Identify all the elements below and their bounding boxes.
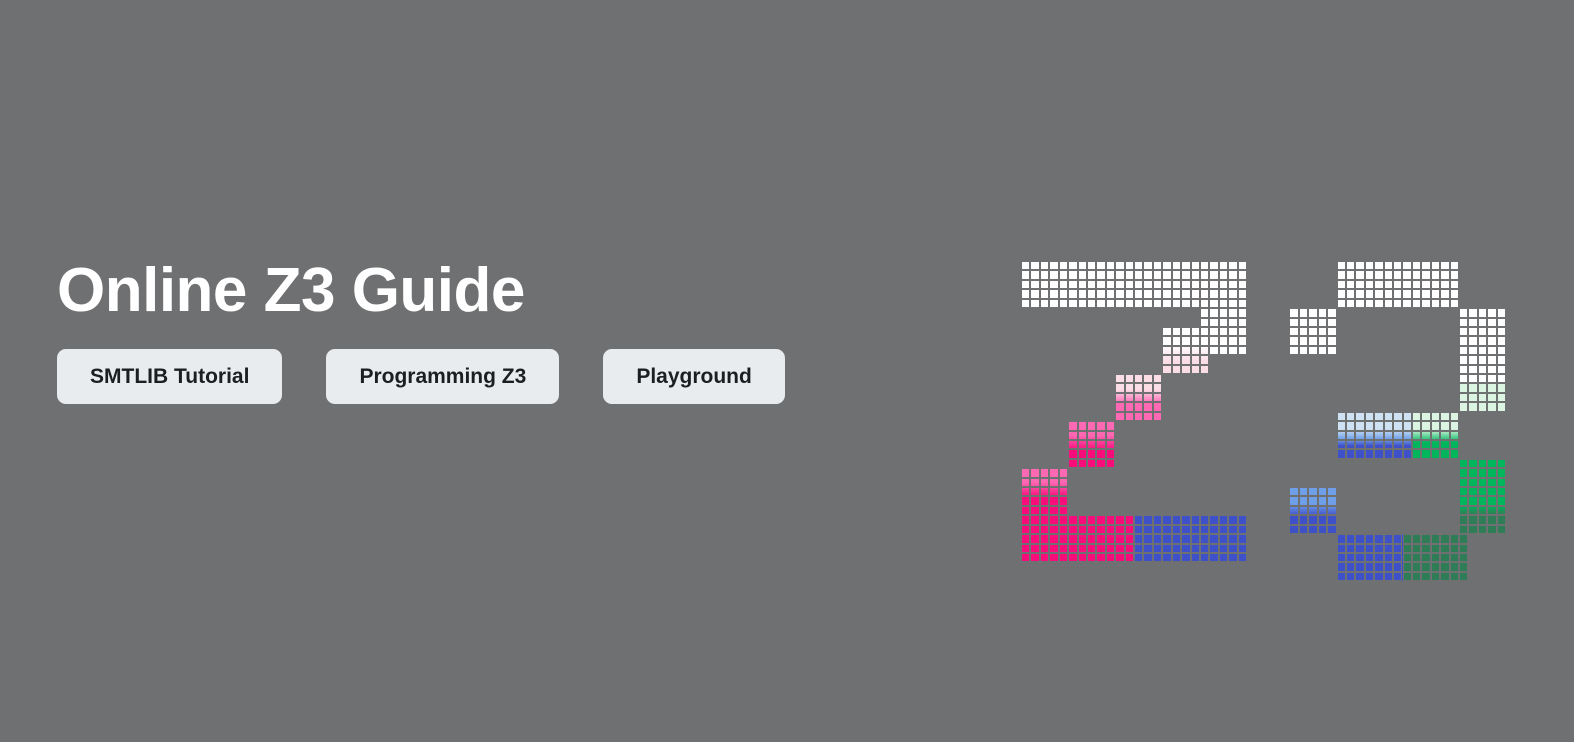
- logo-cell: [1030, 478, 1039, 487]
- logo-cell: [1468, 318, 1477, 327]
- logo-cell: [1162, 299, 1171, 308]
- logo-cell: [1030, 496, 1039, 505]
- logo-cell: [1125, 544, 1134, 553]
- logo-cell: [1096, 270, 1105, 279]
- logo-cell: [1412, 270, 1421, 279]
- logo-cell: [1125, 374, 1134, 383]
- logo-cell: [1299, 327, 1308, 336]
- logo-cell: [1078, 421, 1087, 430]
- logo-cell: [1459, 515, 1468, 524]
- logo-cell: [1068, 280, 1077, 289]
- logo-cell: [1308, 496, 1317, 505]
- logo-cell: [1412, 449, 1421, 458]
- logo-cell: [1209, 515, 1218, 524]
- logo-cell: [1365, 440, 1374, 449]
- logo-cell: [1468, 525, 1477, 534]
- logo-cell: [1200, 308, 1209, 317]
- logo-cell: [1487, 365, 1496, 374]
- logo-cell: [1393, 280, 1402, 289]
- logo-cell: [1021, 270, 1030, 279]
- logo-cell: [1393, 431, 1402, 440]
- logo-cell: [1289, 515, 1298, 524]
- logo-cell: [1219, 336, 1228, 345]
- logo-cell: [1393, 289, 1402, 298]
- logo-cell: [1162, 515, 1171, 524]
- logo-cell: [1478, 327, 1487, 336]
- logo-cell: [1172, 280, 1181, 289]
- logo-cell: [1412, 553, 1421, 562]
- logo-cell: [1374, 553, 1383, 562]
- logo-cell: [1078, 440, 1087, 449]
- logo-cell: [1059, 525, 1068, 534]
- logo-cell: [1181, 280, 1190, 289]
- logo-block: [1021, 515, 1134, 562]
- logo-cell: [1468, 459, 1477, 468]
- logo-cell: [1384, 289, 1393, 298]
- logo-cell: [1468, 365, 1477, 374]
- logo-cell: [1096, 525, 1105, 534]
- logo-cell: [1153, 534, 1162, 543]
- logo-cell: [1181, 534, 1190, 543]
- logo-cell: [1106, 449, 1115, 458]
- logo-block: [1021, 468, 1068, 515]
- logo-cell: [1355, 431, 1364, 440]
- logo-cell: [1421, 280, 1430, 289]
- logo-cell: [1403, 534, 1412, 543]
- logo-cell: [1337, 421, 1346, 430]
- logo-cell: [1412, 431, 1421, 440]
- logo-cell: [1228, 318, 1237, 327]
- logo-cell: [1487, 478, 1496, 487]
- logo-cell: [1459, 478, 1468, 487]
- logo-cell: [1450, 289, 1459, 298]
- logo-cell: [1200, 318, 1209, 327]
- logo-cell: [1021, 553, 1030, 562]
- logo-cell: [1468, 383, 1477, 392]
- logo-cell: [1021, 478, 1030, 487]
- logo-cell: [1059, 280, 1068, 289]
- logo-cell: [1106, 421, 1115, 430]
- logo-cell: [1228, 346, 1237, 355]
- logo-cell: [1021, 525, 1030, 534]
- logo-cell: [1468, 308, 1477, 317]
- logo-cell: [1096, 544, 1105, 553]
- logo-cell: [1200, 534, 1209, 543]
- logo-cell: [1403, 431, 1412, 440]
- logo-cell: [1040, 270, 1049, 279]
- logo-cell: [1346, 562, 1355, 571]
- logo-cell: [1403, 553, 1412, 562]
- logo-cell: [1040, 280, 1049, 289]
- logo-cell: [1299, 506, 1308, 515]
- logo-cell: [1487, 525, 1496, 534]
- logo-cell: [1374, 449, 1383, 458]
- logo-cell: [1030, 280, 1039, 289]
- logo-cell: [1468, 402, 1477, 411]
- logo-cell: [1087, 299, 1096, 308]
- logo-cell: [1374, 431, 1383, 440]
- logo-cell: [1115, 261, 1124, 270]
- logo-cell: [1238, 346, 1247, 355]
- logo-cell: [1238, 318, 1247, 327]
- logo-cell: [1191, 553, 1200, 562]
- logo-cell: [1308, 336, 1317, 345]
- logo-cell: [1030, 525, 1039, 534]
- logo-cell: [1200, 355, 1209, 364]
- logo-cell: [1191, 355, 1200, 364]
- logo-cell: [1209, 270, 1218, 279]
- logo-cell: [1440, 421, 1449, 430]
- logo-cell: [1134, 393, 1143, 402]
- logo-cell: [1209, 336, 1218, 345]
- logo-cell: [1412, 534, 1421, 543]
- logo-cell: [1115, 383, 1124, 392]
- logo-cell: [1393, 440, 1402, 449]
- logo-cell: [1308, 346, 1317, 355]
- logo-cell: [1468, 355, 1477, 364]
- logo-cell: [1172, 261, 1181, 270]
- logo-cell: [1327, 327, 1336, 336]
- logo-cell: [1478, 374, 1487, 383]
- logo-cell: [1346, 270, 1355, 279]
- logo-cell: [1299, 487, 1308, 496]
- logo-cell: [1153, 270, 1162, 279]
- logo-cell: [1068, 421, 1077, 430]
- logo-cell: [1143, 534, 1152, 543]
- logo-cell: [1365, 299, 1374, 308]
- logo-cell: [1238, 299, 1247, 308]
- logo-cell: [1355, 280, 1364, 289]
- logo-cell: [1487, 487, 1496, 496]
- logo-cell: [1355, 440, 1364, 449]
- logo-cell: [1468, 393, 1477, 402]
- logo-cell: [1412, 562, 1421, 571]
- logo-cell: [1346, 261, 1355, 270]
- logo-cell: [1115, 412, 1124, 421]
- logo-cell: [1238, 261, 1247, 270]
- logo-cell: [1431, 289, 1440, 298]
- logo-cell: [1318, 496, 1327, 505]
- logo-cell: [1125, 299, 1134, 308]
- logo-cell: [1228, 299, 1237, 308]
- logo-cell: [1106, 544, 1115, 553]
- logo-cell: [1228, 534, 1237, 543]
- logo-cell: [1143, 261, 1152, 270]
- logo-cell: [1478, 355, 1487, 364]
- logo-cell: [1228, 336, 1237, 345]
- logo-cell: [1412, 421, 1421, 430]
- logo-cell: [1337, 261, 1346, 270]
- logo-cell: [1421, 431, 1430, 440]
- logo-cell: [1181, 553, 1190, 562]
- logo-cell: [1209, 308, 1218, 317]
- logo-cell: [1059, 261, 1068, 270]
- logo-cell: [1162, 544, 1171, 553]
- logo-cell: [1228, 327, 1237, 336]
- logo-cell: [1191, 525, 1200, 534]
- logo-cell: [1478, 383, 1487, 392]
- logo-cell: [1228, 280, 1237, 289]
- logo-cell: [1209, 544, 1218, 553]
- logo-cell: [1384, 299, 1393, 308]
- logo-cell: [1143, 553, 1152, 562]
- logo-cell: [1468, 374, 1477, 383]
- logo-cell: [1078, 534, 1087, 543]
- logo-cell: [1487, 496, 1496, 505]
- logo-cell: [1162, 346, 1171, 355]
- logo-cell: [1153, 299, 1162, 308]
- logo-cell: [1459, 318, 1468, 327]
- logo-cell: [1134, 515, 1143, 524]
- logo-cell: [1172, 553, 1181, 562]
- logo-block: [1337, 412, 1412, 459]
- logo-cell: [1440, 572, 1449, 581]
- logo-cell: [1068, 299, 1077, 308]
- logo-cell: [1289, 487, 1298, 496]
- logo-cell: [1289, 336, 1298, 345]
- logo-cell: [1049, 468, 1058, 477]
- logo-cell: [1143, 412, 1152, 421]
- logo-cell: [1431, 412, 1440, 421]
- logo-cell: [1355, 534, 1364, 543]
- logo-cell: [1487, 355, 1496, 364]
- logo-cell: [1346, 431, 1355, 440]
- logo-cell: [1421, 544, 1430, 553]
- logo-cell: [1219, 544, 1228, 553]
- logo-cell: [1487, 327, 1496, 336]
- logo-cell: [1143, 525, 1152, 534]
- logo-cell: [1200, 346, 1209, 355]
- logo-cell: [1096, 534, 1105, 543]
- logo-cell: [1200, 525, 1209, 534]
- logo-cell: [1487, 308, 1496, 317]
- logo-cell: [1450, 544, 1459, 553]
- logo-cell: [1115, 525, 1124, 534]
- logo-cell: [1384, 572, 1393, 581]
- logo-cell: [1068, 459, 1077, 468]
- logo-cell: [1125, 402, 1134, 411]
- logo-cell: [1059, 544, 1068, 553]
- logo-cell: [1209, 346, 1218, 355]
- logo-cell: [1318, 487, 1327, 496]
- logo-cell: [1209, 318, 1218, 327]
- logo-cell: [1209, 553, 1218, 562]
- logo-cell: [1106, 459, 1115, 468]
- logo-cell: [1078, 515, 1087, 524]
- logo-cell: [1468, 468, 1477, 477]
- logo-cell: [1078, 270, 1087, 279]
- logo-cell: [1172, 289, 1181, 298]
- logo-cell: [1162, 270, 1171, 279]
- logo-cell: [1228, 544, 1237, 553]
- logo-cell: [1172, 534, 1181, 543]
- logo-cell: [1308, 525, 1317, 534]
- logo-cell: [1412, 261, 1421, 270]
- programming-z3-button[interactable]: Programming Z3: [326, 349, 559, 404]
- playground-button[interactable]: Playground: [603, 349, 785, 404]
- logo-cell: [1219, 327, 1228, 336]
- logo-cell: [1346, 280, 1355, 289]
- logo-cell: [1459, 355, 1468, 364]
- logo-cell: [1049, 534, 1058, 543]
- logo-cell: [1450, 562, 1459, 571]
- logo-cell: [1497, 402, 1506, 411]
- logo-cell: [1299, 525, 1308, 534]
- logo-cell: [1200, 553, 1209, 562]
- logo-cell: [1365, 562, 1374, 571]
- logo-cell: [1327, 318, 1336, 327]
- logo-cell: [1106, 289, 1115, 298]
- logo-cell: [1327, 525, 1336, 534]
- logo-cell: [1021, 534, 1030, 543]
- logo-cell: [1125, 280, 1134, 289]
- logo-cell: [1115, 515, 1124, 524]
- logo-cell: [1087, 270, 1096, 279]
- logo-cell: [1096, 440, 1105, 449]
- logo-cell: [1181, 365, 1190, 374]
- logo-cell: [1200, 299, 1209, 308]
- logo-cell: [1115, 393, 1124, 402]
- logo-cell: [1134, 402, 1143, 411]
- logo-cell: [1403, 421, 1412, 430]
- logo-cell: [1059, 468, 1068, 477]
- logo-cell: [1087, 421, 1096, 430]
- logo-cell: [1021, 289, 1030, 298]
- logo-cell: [1181, 327, 1190, 336]
- logo-cell: [1125, 525, 1134, 534]
- logo-cell: [1412, 440, 1421, 449]
- logo-cell: [1191, 327, 1200, 336]
- logo-cell: [1487, 336, 1496, 345]
- logo-cell: [1106, 299, 1115, 308]
- logo-cell: [1059, 534, 1068, 543]
- logo-cell: [1450, 449, 1459, 458]
- logo-cell: [1068, 553, 1077, 562]
- logo-cell: [1459, 402, 1468, 411]
- logo-cell: [1153, 393, 1162, 402]
- logo-cell: [1402, 299, 1411, 308]
- logo-cell: [1337, 449, 1346, 458]
- logo-cell: [1172, 336, 1181, 345]
- logo-cell: [1030, 261, 1039, 270]
- logo-cell: [1228, 515, 1237, 524]
- logo-cell: [1440, 431, 1449, 440]
- logo-cell: [1374, 412, 1383, 421]
- logo-cell: [1134, 261, 1143, 270]
- logo-cell: [1021, 487, 1030, 496]
- logo-cell: [1021, 496, 1030, 505]
- logo-cell: [1021, 280, 1030, 289]
- logo-cell: [1209, 299, 1218, 308]
- logo-cell: [1078, 289, 1087, 298]
- logo-cell: [1374, 421, 1383, 430]
- logo-cell: [1431, 449, 1440, 458]
- logo-cell: [1096, 261, 1105, 270]
- logo-cell: [1172, 525, 1181, 534]
- logo-cell: [1478, 365, 1487, 374]
- logo-cell: [1049, 270, 1058, 279]
- logo-cell: [1497, 327, 1506, 336]
- logo-cell: [1327, 496, 1336, 505]
- logo-cell: [1365, 534, 1374, 543]
- logo-cell: [1497, 365, 1506, 374]
- logo-cell: [1143, 402, 1152, 411]
- logo-cell: [1191, 346, 1200, 355]
- logo-cell: [1468, 506, 1477, 515]
- logo-cell: [1327, 346, 1336, 355]
- logo-cell: [1412, 412, 1421, 421]
- logo-cell: [1289, 346, 1298, 355]
- logo-cell: [1162, 261, 1171, 270]
- logo-cell: [1384, 440, 1393, 449]
- logo-cell: [1106, 525, 1115, 534]
- logo-cell: [1134, 374, 1143, 383]
- logo-cell: [1487, 393, 1496, 402]
- smtlib-tutorial-button[interactable]: SMTLIB Tutorial: [57, 349, 282, 404]
- logo-cell: [1337, 572, 1346, 581]
- logo-cell: [1115, 553, 1124, 562]
- logo-cell: [1497, 355, 1506, 364]
- logo-cell: [1068, 449, 1077, 458]
- logo-cell: [1021, 515, 1030, 524]
- logo-cell: [1040, 487, 1049, 496]
- logo-cell: [1355, 412, 1364, 421]
- logo-cell: [1374, 280, 1383, 289]
- logo-cell: [1289, 506, 1298, 515]
- logo-cell: [1497, 318, 1506, 327]
- logo-cell: [1228, 270, 1237, 279]
- logo-cell: [1143, 383, 1152, 392]
- logo-cell: [1299, 515, 1308, 524]
- logo-cell: [1459, 525, 1468, 534]
- logo-cell: [1421, 440, 1430, 449]
- logo-cell: [1134, 289, 1143, 298]
- logo-cell: [1393, 412, 1402, 421]
- logo-cell: [1068, 534, 1077, 543]
- logo-cell: [1374, 261, 1383, 270]
- logo-cell: [1172, 355, 1181, 364]
- logo-cell: [1115, 289, 1124, 298]
- logo-block: [1459, 308, 1506, 383]
- logo-cell: [1308, 487, 1317, 496]
- logo-cell: [1200, 280, 1209, 289]
- logo-cell: [1030, 534, 1039, 543]
- logo-cell: [1308, 506, 1317, 515]
- logo-cell: [1153, 525, 1162, 534]
- logo-cell: [1125, 393, 1134, 402]
- logo-cell: [1049, 553, 1058, 562]
- logo-cell: [1219, 299, 1228, 308]
- logo-cell: [1078, 553, 1087, 562]
- logo-cell: [1487, 506, 1496, 515]
- logo-cell: [1096, 280, 1105, 289]
- logo-cell: [1346, 440, 1355, 449]
- logo-cell: [1030, 506, 1039, 515]
- logo-cell: [1440, 280, 1449, 289]
- logo-cell: [1087, 449, 1096, 458]
- logo-cell: [1450, 261, 1459, 270]
- logo-cell: [1143, 515, 1152, 524]
- logo-cell: [1421, 412, 1430, 421]
- logo-cell: [1115, 374, 1124, 383]
- logo-cell: [1153, 544, 1162, 553]
- logo-cell: [1318, 318, 1327, 327]
- logo-cell: [1497, 515, 1506, 524]
- logo-cell: [1030, 487, 1039, 496]
- logo-cell: [1346, 299, 1355, 308]
- logo-cell: [1087, 431, 1096, 440]
- logo-cell: [1421, 449, 1430, 458]
